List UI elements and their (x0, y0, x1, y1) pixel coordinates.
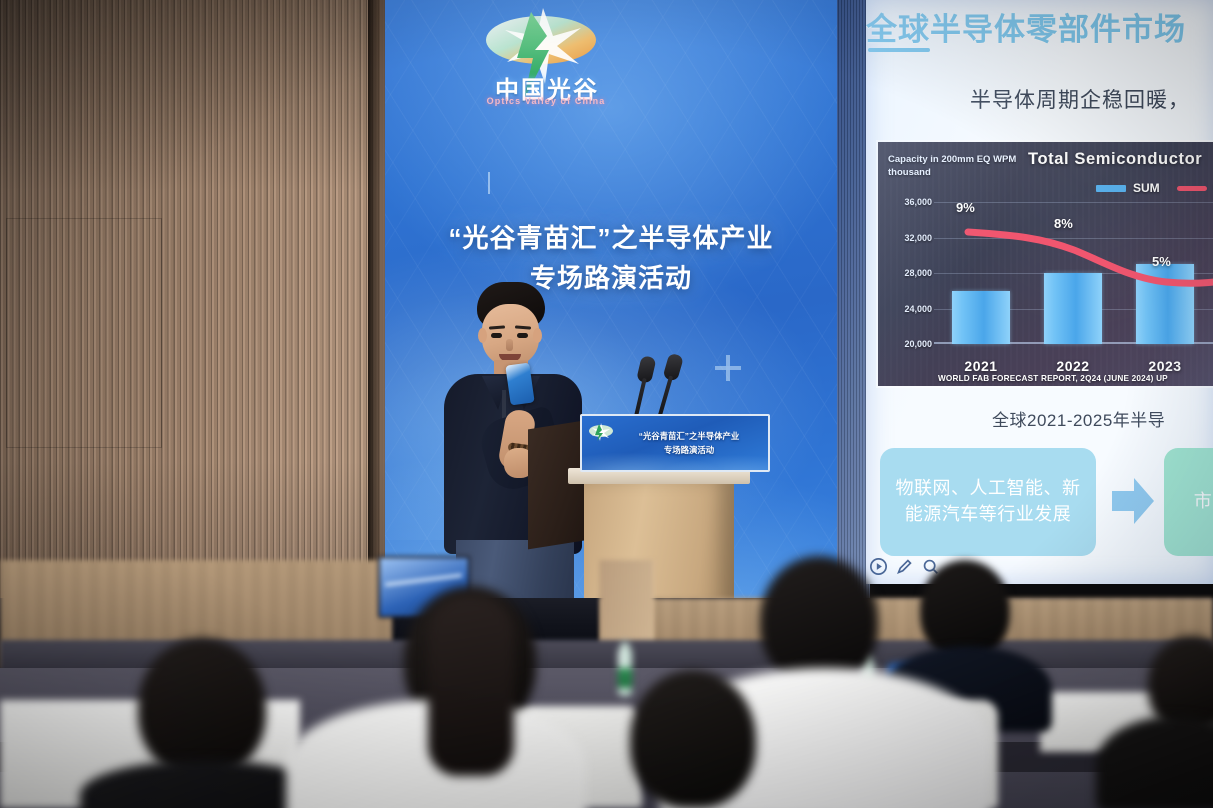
presentation-clicker (505, 363, 534, 406)
bottle-label (618, 668, 632, 688)
chart-title: Total Semiconductor (1028, 150, 1213, 169)
slide-box-drivers: 物联网、人工智能、新能源汽车等行业发展 (880, 448, 1096, 556)
water-bottle-1 (618, 648, 632, 696)
y-tick-36000: 36,000 (884, 197, 932, 207)
speaker-eye-right (517, 333, 528, 338)
y-tick-20000: 20,000 (884, 339, 932, 349)
y-tick-28000: 28,000 (884, 268, 932, 278)
wall-shading (0, 0, 392, 640)
optics-valley-logo: 中国光谷 Optics Valley of China (461, 6, 621, 118)
chart-legend: SUM % Chan (1096, 181, 1213, 195)
x-tick-2023: 2023 (1122, 358, 1208, 374)
presentation-photo: 中国光谷 Optics Valley of China “光谷青苗汇”之半导体产… (0, 0, 1213, 808)
podium-sign-text: “光谷青苗汇”之半导体产业 专场路演活动 (610, 429, 768, 458)
powerpoint-presenter-controls[interactable] (870, 558, 939, 575)
semiconductor-capacity-chart: Capacity in 200mm EQ WPM thousand Total … (878, 142, 1213, 386)
backdrop-tick-motif (488, 172, 490, 194)
wood-slat-wall-left (0, 0, 392, 640)
data-label-8pct: 8% (1054, 216, 1073, 231)
data-label-5pct: 5% (1152, 254, 1171, 269)
slide-lead-text: 半导体周期企稳回暖， (970, 84, 1213, 114)
chart-y-axis-label: Capacity in 200mm EQ WPM thousand (888, 154, 1018, 180)
speaker-eye-left (491, 333, 502, 338)
chart-plot-area: 36,000 32,000 28,000 24,000 20,000 2021 … (934, 202, 1213, 344)
play-icon[interactable] (870, 558, 887, 575)
podium-sign-line2: 专场路演活动 (610, 443, 768, 457)
slide-title-underline (868, 48, 930, 52)
slide-box-market: 市 (1164, 448, 1213, 556)
attendee-ponytail (428, 596, 514, 776)
attendee-head-4 (920, 560, 1010, 658)
percent-change-line (934, 202, 1213, 344)
x-tick-2021: 2021 (938, 358, 1024, 374)
right-arrow-icon (1112, 478, 1154, 524)
projection-screen: 全球半导体零部件市场 半导体周期企稳回暖， Capacity in 200mm … (866, 0, 1213, 584)
backdrop-title-line1: “光谷青苗汇”之半导体产业 (448, 223, 773, 253)
legend-label-sum: SUM (1133, 181, 1160, 195)
chart-source-note: WORLD FAB FORECAST REPORT, 2Q24 (JUNE 20… (938, 374, 1213, 383)
slide-title: 全球半导体零部件市场 (866, 4, 1206, 49)
bottle-cap (621, 642, 629, 649)
y-tick-24000: 24,000 (884, 304, 932, 314)
speaker-ear-right (533, 328, 542, 343)
attendee-head-1 (138, 638, 266, 776)
backdrop-plus-motif (715, 355, 741, 381)
x-tick-2022: 2022 (1030, 358, 1116, 374)
podium-sign-line1: “光谷青苗汇”之半导体产业 (610, 429, 768, 443)
podium-event-sign: “光谷青苗汇”之半导体产业 专场路演活动 (580, 414, 770, 472)
data-label-9pct: 9% (956, 200, 975, 215)
speaker-ear-left (478, 328, 487, 343)
logo-text-en: Optics Valley of China (471, 96, 621, 106)
legend-swatch-bar (1096, 185, 1126, 192)
attendee-head-3 (760, 556, 878, 684)
y-tick-32000: 32,000 (884, 233, 932, 243)
slide-chart-caption: 全球2021-2025年半导 (992, 406, 1213, 431)
speaker-nose (506, 339, 513, 351)
legend-swatch-line (1177, 186, 1207, 191)
pen-icon[interactable] (896, 558, 913, 575)
attendee-head-5 (630, 670, 756, 808)
